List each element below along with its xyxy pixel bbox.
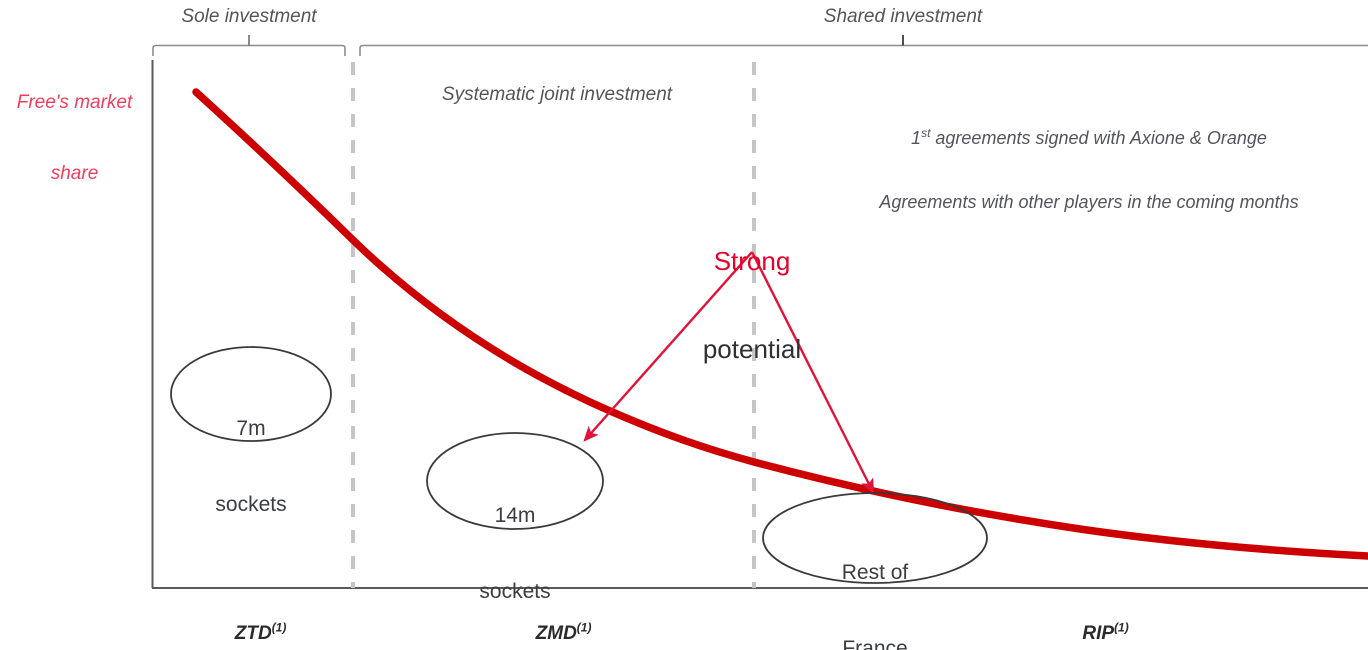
x-axis-label-ztd-note: (1) bbox=[272, 621, 287, 635]
y-axis-label: Free's market share bbox=[2, 43, 147, 233]
bracket-shared-investment bbox=[360, 35, 1368, 56]
chart-canvas: Sole investment Shared investment Free's… bbox=[0, 0, 1368, 650]
callout-headline: Strong bbox=[648, 247, 856, 276]
x-axis-label-zmd: ZMD(1) bbox=[483, 601, 623, 650]
rip-annotation-line2: Agreements with other players in the com… bbox=[824, 192, 1354, 213]
y-axis-label-line2: share bbox=[2, 162, 147, 186]
x-axis-label-ztd: ZTD(1) bbox=[180, 601, 320, 650]
callout-subline: potential bbox=[648, 335, 856, 364]
rip-annotation: 1st agreements signed with Axione & Oran… bbox=[824, 84, 1354, 256]
x-axis-label-rip-note: (1) bbox=[1114, 621, 1129, 635]
phase-label-shared-investment: Shared investment bbox=[813, 6, 993, 28]
segment-title-systematic-joint-investment: Systematic joint investment bbox=[412, 84, 702, 106]
bubble-label-zmd-line1: 14m bbox=[435, 503, 595, 528]
bubble-label-ztd-line2: sockets bbox=[171, 492, 331, 517]
bubble-label-ztd-line1: 7m bbox=[171, 416, 331, 441]
rip-annotation-prefix: 1 bbox=[911, 128, 921, 148]
x-axis-label-rip-text: RIP bbox=[1082, 623, 1114, 644]
bubble-label-rip: Rest of France bbox=[785, 510, 965, 650]
phase-label-sole-investment: Sole investment bbox=[159, 6, 339, 28]
rip-annotation-rest: agreements signed with Axione & Orange bbox=[930, 128, 1267, 148]
bracket-sole-investment bbox=[153, 35, 345, 56]
x-axis-label-rip: RIP(1) bbox=[1025, 601, 1165, 650]
rip-annotation-sup: st bbox=[921, 126, 930, 140]
bubble-label-rip-line2: France bbox=[785, 636, 965, 650]
y-axis-label-line1: Free's market bbox=[2, 91, 147, 115]
x-axis-label-zmd-text: ZMD bbox=[536, 623, 577, 644]
rip-annotation-line1: 1st agreements signed with Axione & Oran… bbox=[824, 126, 1354, 149]
x-axis-label-ztd-text: ZTD bbox=[235, 623, 272, 644]
x-axis-label-zmd-note: (1) bbox=[577, 621, 592, 635]
bubble-label-ztd: 7m sockets bbox=[171, 366, 331, 568]
bubble-label-rip-line1: Rest of bbox=[785, 560, 965, 585]
strong-potential-callout: Strong potential bbox=[648, 189, 856, 422]
